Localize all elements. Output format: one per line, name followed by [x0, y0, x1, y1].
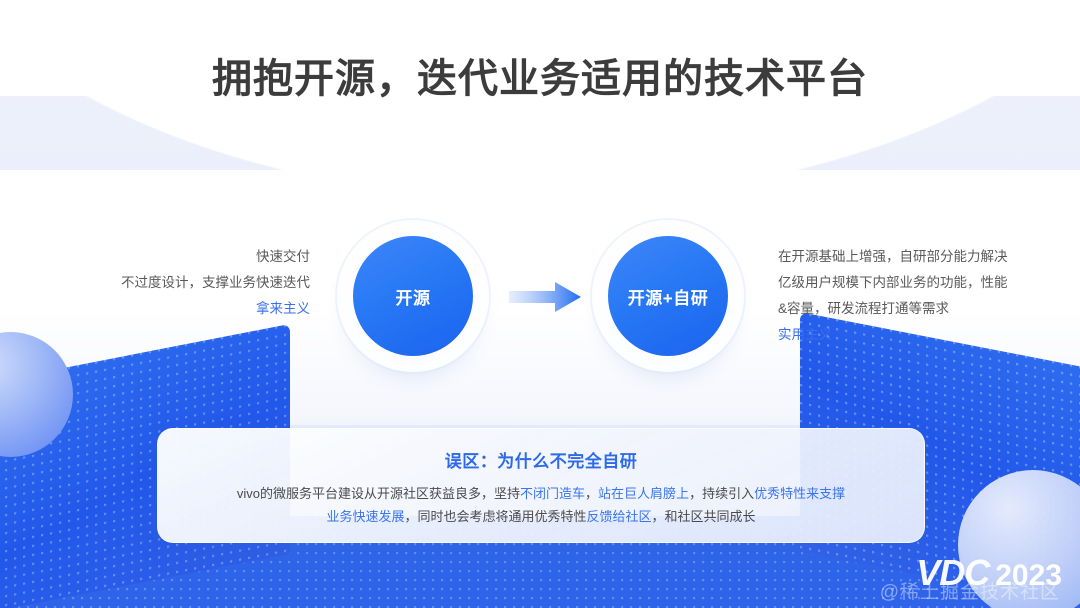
node-open-source-label: 开源 — [396, 284, 431, 309]
note-panel-body-line-1: vivo的微服务平台建设从开源社区获益良多，坚持不闭门造车，站在巨人肩膀上，持续… — [158, 482, 924, 505]
note-line2-accent-2: 反馈给社区 — [587, 509, 652, 524]
node-open-source-plus-inhouse-label: 开源+自研 — [628, 284, 708, 309]
node-open-source[interactable]: 开源 — [353, 236, 473, 356]
right-description-line-2: 亿级用户规模下内部业务的功能，性能 — [778, 270, 1078, 296]
note-line1-accent-3: 优秀特性来支撑 — [754, 486, 845, 501]
left-description-line-2: 不过度设计，支撑业务快速迭代 — [60, 270, 310, 296]
right-description: 在开源基础上增强，自研部分能力解决 亿级用户规模下内部业务的功能，性能 &容量，… — [778, 244, 1078, 348]
watermark: @稀土掘金技术社区 — [880, 577, 1060, 604]
note-panel-body-line-2: 业务快速发展，同时也会考虑将通用优秀特性反馈给社区，和社区共同成长 — [158, 505, 924, 528]
arrow-right-icon — [509, 280, 583, 314]
diagram-section: 快速交付 不过度设计，支撑业务快速迭代 拿来主义 开源 开源+自研 在开源基础上… — [0, 230, 1080, 410]
note-line1-seg-c: ，持续引入 — [689, 486, 754, 501]
left-description-line-1: 快速交付 — [60, 244, 310, 270]
left-description-accent: 拿来主义 — [60, 296, 310, 322]
note-panel-body: vivo的微服务平台建设从开源社区获益良多，坚持不闭门造车，站在巨人肩膀上，持续… — [158, 482, 924, 528]
page-title: 拥抱开源，迭代业务适用的技术平台 — [0, 46, 1080, 104]
note-line1-seg-b: ， — [585, 486, 598, 501]
note-panel: 误区：为什么不完全自研 vivo的微服务平台建设从开源社区获益良多，坚持不闭门造… — [157, 428, 925, 543]
node-open-source-plus-inhouse[interactable]: 开源+自研 — [608, 236, 728, 356]
note-line2-seg-a: ，同时也会考虑将通用优秀特性 — [404, 509, 586, 524]
note-line1-accent-1: 不闭门造车 — [520, 486, 585, 501]
note-line1-seg-a: vivo的微服务平台建设从开源社区获益良多，坚持 — [237, 486, 520, 501]
right-description-line-3: &容量，研发流程打通等需求 — [778, 296, 1078, 322]
right-description-accent: 实用主义 — [778, 322, 1078, 348]
note-line1-accent-2: 站在巨人肩膀上 — [598, 486, 689, 501]
note-line2-seg-b: ，和社区共同成长 — [652, 509, 756, 524]
note-line2-accent-1: 业务快速发展 — [326, 509, 404, 524]
right-description-line-1: 在开源基础上增强，自研部分能力解决 — [778, 244, 1078, 270]
left-description: 快速交付 不过度设计，支撑业务快速迭代 拿来主义 — [60, 244, 310, 322]
note-panel-title: 误区：为什么不完全自研 — [158, 447, 924, 472]
